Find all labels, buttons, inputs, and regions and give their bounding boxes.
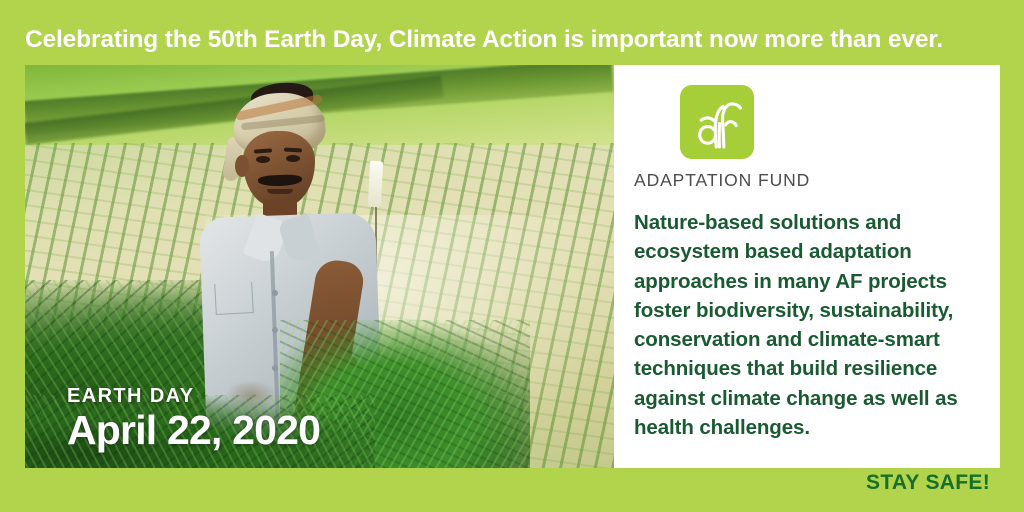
banner-headline: Celebrating the 50th Earth Day, Climate … (25, 24, 1005, 56)
farmer-ear (235, 155, 249, 177)
farmer-shirt-button (272, 327, 278, 333)
farmer-eye-left (256, 156, 270, 163)
farmer-shirt-button (272, 365, 278, 371)
farmer-mouth (267, 189, 293, 194)
adaptation-fund-leaf-icon (680, 85, 754, 159)
photo-caption: EARTH DAY April 22, 2020 (67, 385, 320, 452)
stay-safe-tagline: STAY SAFE! (866, 471, 990, 495)
farmer-shirt-pocket (214, 282, 254, 315)
farmer-photo: EARTH DAY April 22, 2020 (25, 65, 614, 468)
adaptation-fund-wordmark: ADAPTATION FUND (634, 170, 980, 191)
farmer-eye-right (286, 155, 300, 162)
caption-kicker: EARTH DAY (67, 385, 320, 407)
body-copy: Nature-based solutions and ecosystem bas… (634, 208, 982, 442)
earth-day-banner: Celebrating the 50th Earth Day, Climate … (0, 0, 1024, 512)
farmer-shirt-button (272, 290, 278, 296)
caption-date: April 22, 2020 (67, 408, 320, 452)
farmer-face (243, 131, 315, 207)
content-panel: ADAPTATION FUND Nature-based solutions a… (614, 65, 1000, 468)
adaptation-fund-logo: ADAPTATION FUND (634, 85, 980, 191)
farmer-eyebrow-right (284, 148, 302, 153)
